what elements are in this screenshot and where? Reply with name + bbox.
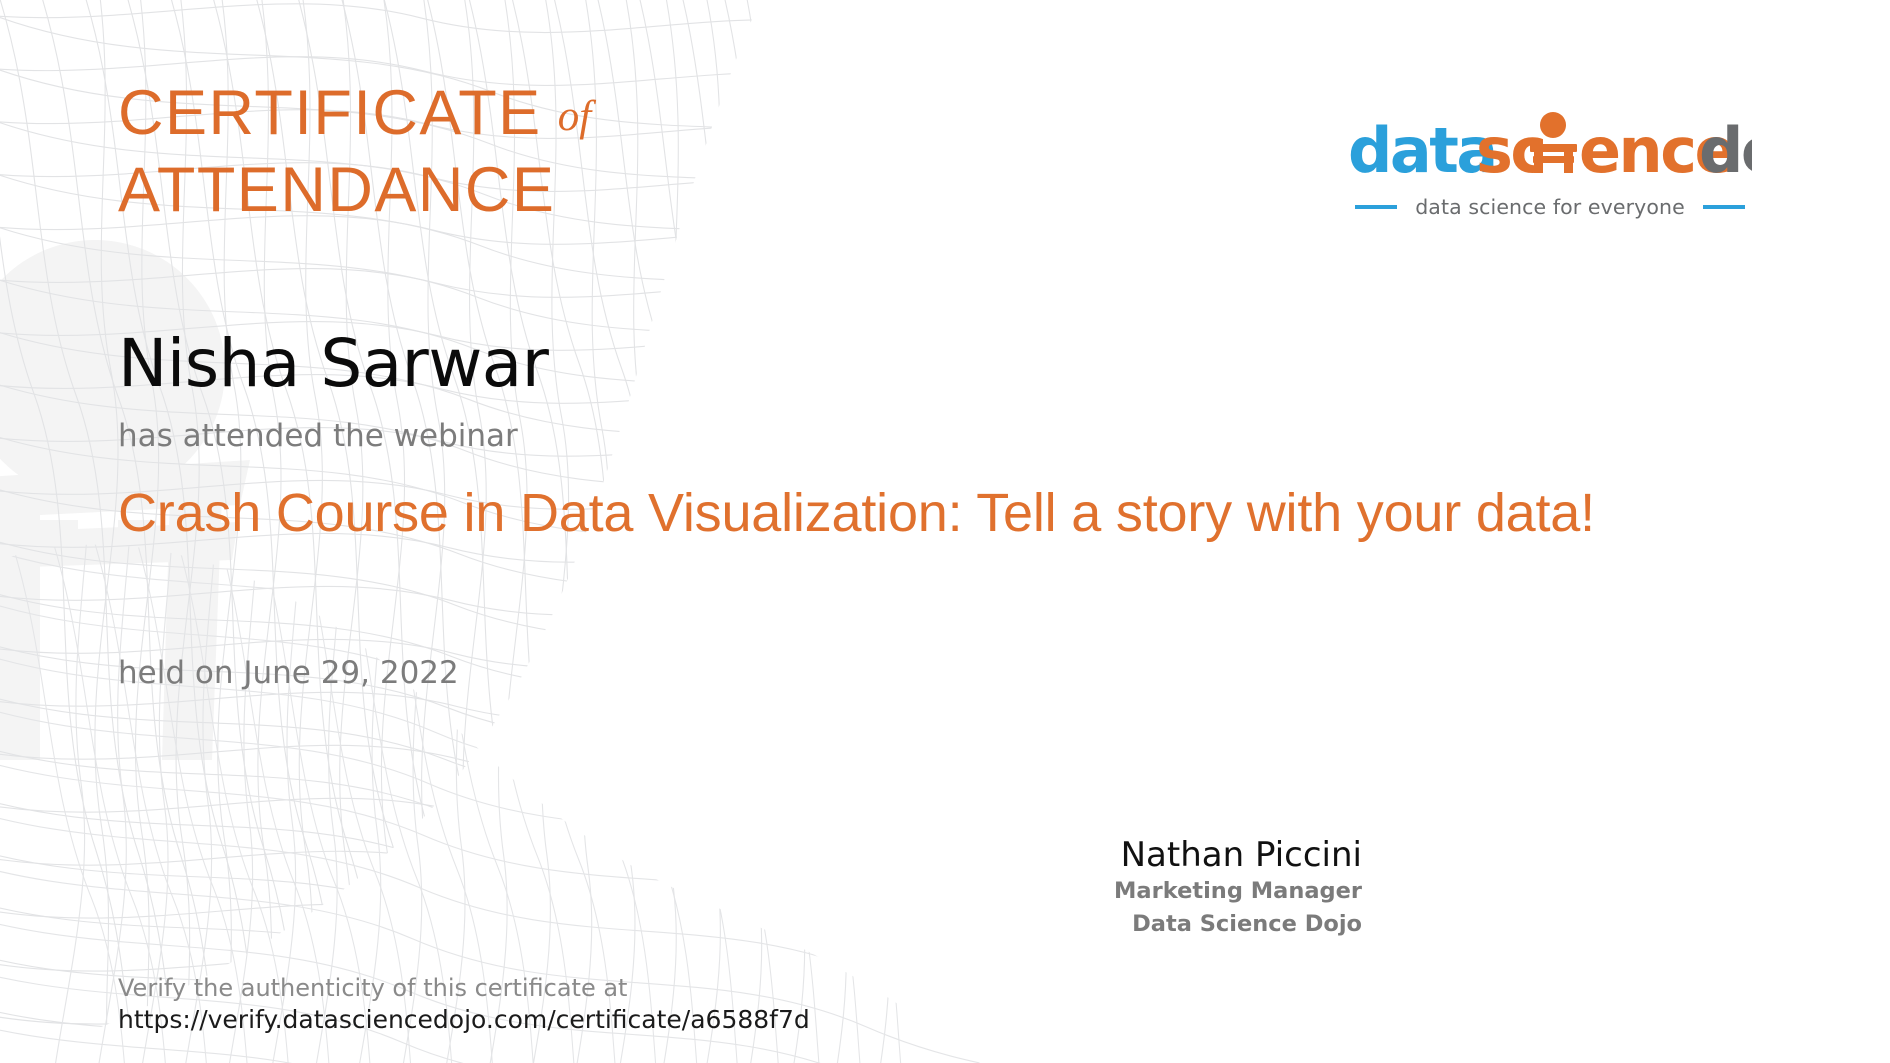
certificate-canvas: CERTIFICATEof ATTENDANCE data sc ence do…: [0, 0, 1890, 1063]
datasciencedojo-logo[interactable]: data sc ence dojo data science for every…: [1348, 112, 1768, 219]
signatory-organization: Data Science Dojo: [802, 908, 1362, 941]
attendance-statement: has attended the webinar: [118, 418, 518, 454]
signature-block: Nathan Piccini Marketing Manager Data Sc…: [802, 835, 1362, 940]
logo-tagline-row: data science for everyone: [1348, 195, 1752, 219]
tagline-dash-right-icon: [1703, 205, 1745, 209]
webinar-title: Crash Course in Data Visualization: Tell…: [118, 480, 1818, 548]
verification-caption: Verify the authenticity of this certific…: [118, 975, 810, 1003]
logo-wordmark-icon: data sc ence dojo: [1348, 112, 1752, 186]
heading-line-1: CERTIFICATEof: [118, 82, 591, 145]
logo-tagline-text: data science for everyone: [1415, 195, 1685, 219]
signatory-role: Marketing Manager: [802, 875, 1362, 908]
signatory-name: Nathan Piccini: [802, 835, 1362, 875]
event-date: held on June 29, 2022: [118, 655, 459, 691]
heading-line-2: ATTENDANCE: [118, 159, 591, 222]
svg-text:dojo: dojo: [1699, 114, 1752, 186]
certificate-heading: CERTIFICATEof ATTENDANCE: [118, 82, 591, 222]
heading-word-of: of: [558, 93, 591, 140]
verification-url-link[interactable]: https://verify.datasciencedojo.com/certi…: [118, 1005, 810, 1035]
svg-text:data: data: [1348, 114, 1496, 186]
tagline-dash-left-icon: [1355, 205, 1397, 209]
recipient-name: Nisha Sarwar: [118, 325, 548, 402]
heading-word-certificate: CERTIFICATE: [118, 78, 542, 148]
verification-block: Verify the authenticity of this certific…: [118, 975, 810, 1035]
